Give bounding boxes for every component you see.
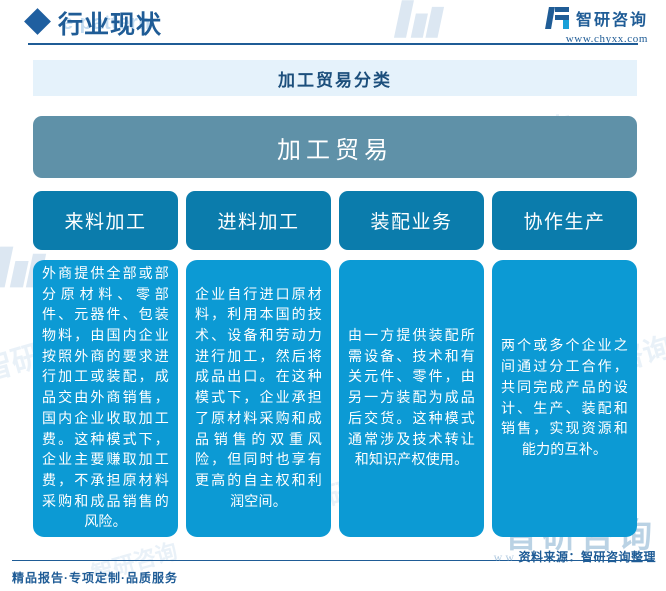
diagram-title: 加工贸易分类 — [278, 66, 392, 91]
category-label-1: 进料加工 — [217, 207, 299, 234]
category-label-2: 装配业务 — [370, 207, 452, 234]
category-column-jinliao-jiagong: 进料加工 企业自行进口原材料，利用本国的技术、设备和劳动力进行加工，然后将成品出… — [186, 191, 331, 537]
category-column-zhuangpei-yewu: 装配业务 由一方提供装配所需设备、技术和有关元件、零件，由另一方装配为成品后交货… — [339, 191, 484, 537]
root-node: 加工贸易 — [33, 116, 637, 178]
category-head-2[interactable]: 装配业务 — [339, 191, 484, 250]
category-head-3[interactable]: 协作生产 — [492, 191, 637, 250]
category-column-xiezuo-shengchan: 协作生产 两个或多个企业之间通过分工合作，共同完成产品的设计、生产、装配和销售，… — [492, 191, 637, 537]
category-head-1[interactable]: 进料加工 — [186, 191, 331, 250]
category-description-2: 由一方提供装配所需设备、技术和有关元件、零件，由另一方装配为成品后交货。这种模式… — [348, 326, 475, 471]
brand-block[interactable]: 智研咨询 www.chyxx.com — [547, 6, 648, 45]
footer-tagline: 精品报告·专项定制·品质服务 — [12, 569, 178, 586]
category-label-0: 来料加工 — [64, 207, 146, 234]
category-body-1: 企业自行进口原材料，利用本国的技术、设备和劳动力进行加工，然后将成品出口。在这种… — [186, 260, 331, 537]
page-title: 行业现状 — [58, 5, 162, 41]
brand-url[interactable]: www.chyxx.com — [547, 33, 648, 45]
category-description-0: 外商提供全部或部分原材料、零部件、元器件、包装物料，由国内企业按照外商的要求进行… — [42, 264, 169, 533]
footer-www-watermark: w w — [494, 550, 514, 565]
category-label-3: 协作生产 — [523, 207, 605, 234]
category-column-laiiao-jiagong: 来料加工 外商提供全部或部分原材料、零部件、元器件、包装物料，由国内企业按照外商… — [33, 191, 178, 537]
category-description-3: 两个或多个企业之间通过分工合作，共同完成产品的设计、生产、装配和销售，实现资源和… — [501, 336, 628, 460]
category-body-0: 外商提供全部或部分原材料、零部件、元器件、包装物料，由国内企业按照外商的要求进行… — [33, 260, 178, 537]
brand-name: 智研咨询 — [576, 6, 648, 30]
diagram-title-band: 加工贸易分类 — [33, 60, 637, 96]
category-description-1: 企业自行进口原材料，利用本国的技术、设备和劳动力进行加工，然后将成品出口。在这种… — [195, 285, 322, 513]
page-footer: 精品报告·专项定制·品质服务 w w 资料来源：智研咨询整理 — [0, 560, 666, 591]
page-header: e pattern 行业现状 智研咨询 www.chyxx.com — [0, 0, 666, 48]
brand-logo-icon — [547, 7, 569, 29]
category-columns: 来料加工 外商提供全部或部分原材料、零部件、元器件、包装物料，由国内企业按照外商… — [33, 191, 637, 537]
diamond-icon — [24, 8, 51, 35]
category-head-0[interactable]: 来料加工 — [33, 191, 178, 250]
category-body-2: 由一方提供装配所需设备、技术和有关元件、零件，由另一方装配为成品后交货。这种模式… — [339, 260, 484, 537]
footer-source: 资料来源：智研咨询整理 — [518, 548, 656, 565]
root-node-label: 加工贸易 — [277, 130, 393, 165]
category-body-3: 两个或多个企业之间通过分工合作，共同完成产品的设计、生产、装配和销售，实现资源和… — [492, 260, 637, 537]
